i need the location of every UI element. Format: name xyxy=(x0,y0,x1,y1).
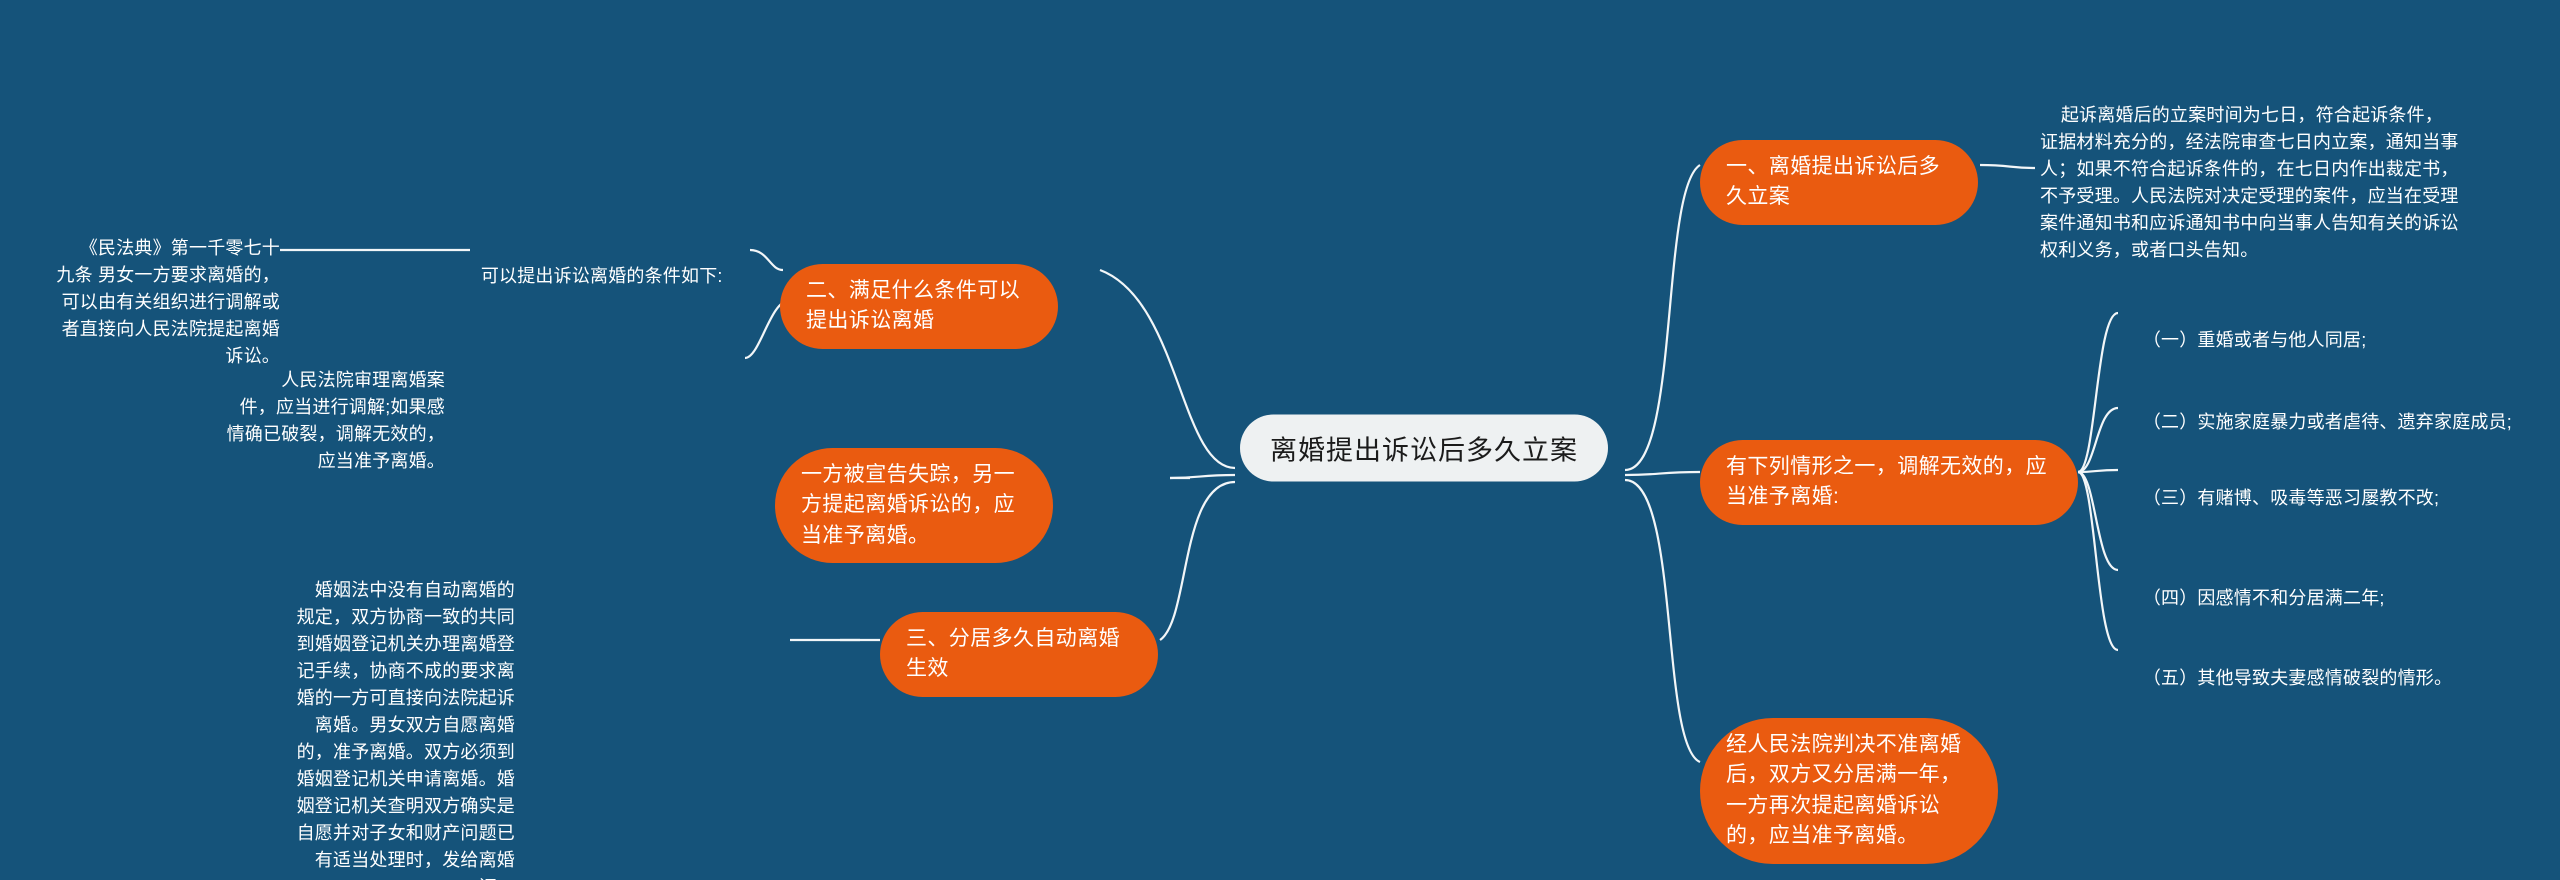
leaf-condition-lead-text: 可以提出诉讼离婚的条件如下: xyxy=(481,266,723,286)
branch-node-right-middle-label: 有下列情形之一，调解无效的，应当准予离婚: xyxy=(1726,452,2052,513)
center-node-label: 离婚提出诉讼后多久立案 xyxy=(1270,429,1578,468)
leaf-condition-4-text: （四）因感情不和分居满二年; xyxy=(2143,588,2385,608)
branch-node-right-top[interactable]: 一、离婚提出诉讼后多久立案 xyxy=(1700,140,1978,225)
leaf-condition-4: （四）因感情不和分居满二年; xyxy=(2122,558,2522,639)
leaf-condition-3-text: （三）有赌博、吸毒等恶习屡教不改; xyxy=(2143,488,2439,508)
leaf-condition-3: （三）有赌博、吸毒等恶习屡教不改; xyxy=(2122,458,2522,539)
branch-node-right-bottom[interactable]: 经人民法院判决不准离婚后，双方又分居满一年，一方再次提起离婚诉讼的，应当准予离婚… xyxy=(1700,718,1998,864)
branch-node-right-top-label: 一、离婚提出诉讼后多久立案 xyxy=(1726,152,1952,213)
branch-node-left-top-label: 二、满足什么条件可以提出诉讼离婚 xyxy=(806,276,1032,337)
branch-node-right-bottom-label: 经人民法院判决不准离婚后，双方又分居满一年，一方再次提起离婚诉讼的，应当准予离婚… xyxy=(1726,730,1972,852)
leaf-separation-detail: 婚姻法中没有自动离婚的规定，双方协商一致的共同到婚姻登记机关办理离婚登记手续，协… xyxy=(290,550,515,880)
branch-node-left-middle[interactable]: 一方被宣告失踪，另一方提起离婚诉讼的，应当准予离婚。 xyxy=(775,448,1053,563)
branch-node-right-middle[interactable]: 有下列情形之一，调解无效的，应当准予离婚: xyxy=(1700,440,2078,525)
leaf-right-top-detail: 起诉离婚后的立案时间为七日，符合起诉条件，证据材料充分的，经法院审查七日内立案，… xyxy=(2040,75,2460,291)
leaf-condition-2-text: （二）实施家庭暴力或者虐待、遗弃家庭成员; xyxy=(2143,412,2512,432)
mindmap-canvas: 离婚提出诉讼后多久立案 一、离婚提出诉讼后多久立案 起诉离婚后的立案时间为七日，… xyxy=(0,0,2560,880)
leaf-condition-2: （二）实施家庭暴力或者虐待、遗弃家庭成员; xyxy=(2122,382,2512,463)
leaf-condition-5-text: （五）其他导致夫妻感情破裂的情形。 xyxy=(2143,668,2452,688)
branch-node-left-top[interactable]: 二、满足什么条件可以提出诉讼离婚 xyxy=(780,264,1058,349)
leaf-condition-1-text: （一）重婚或者与他人同居; xyxy=(2143,330,2367,350)
leaf-right-top-detail-text: 起诉离婚后的立案时间为七日，符合起诉条件，证据材料充分的，经法院审查七日内立案，… xyxy=(2040,105,2459,260)
branch-node-left-bottom-label: 三、分居多久自动离婚生效 xyxy=(906,624,1132,685)
branch-node-left-middle-label: 一方被宣告失踪，另一方提起离婚诉讼的，应当准予离婚。 xyxy=(801,460,1027,551)
leaf-separation-detail-text: 婚姻法中没有自动离婚的规定，双方协商一致的共同到婚姻登记机关办理离婚登记手续，协… xyxy=(297,580,515,880)
leaf-condition-lead: 可以提出诉讼离婚的条件如下: xyxy=(460,236,750,317)
leaf-condition-1: （一）重婚或者与他人同居; xyxy=(2122,300,2522,381)
branch-node-left-bottom[interactable]: 三、分居多久自动离婚生效 xyxy=(880,612,1158,697)
leaf-mediation-rule: 人民法院审理离婚案件，应当进行调解;如果感情确已破裂，调解无效的，应当准予离婚。 xyxy=(225,340,445,502)
leaf-condition-5: （五）其他导致夫妻感情破裂的情形。 xyxy=(2122,638,2522,719)
center-node[interactable]: 离婚提出诉讼后多久立案 xyxy=(1240,415,1608,482)
leaf-mediation-rule-text: 人民法院审理离婚案件，应当进行调解;如果感情确已破裂，调解无效的，应当准予离婚。 xyxy=(227,370,445,471)
